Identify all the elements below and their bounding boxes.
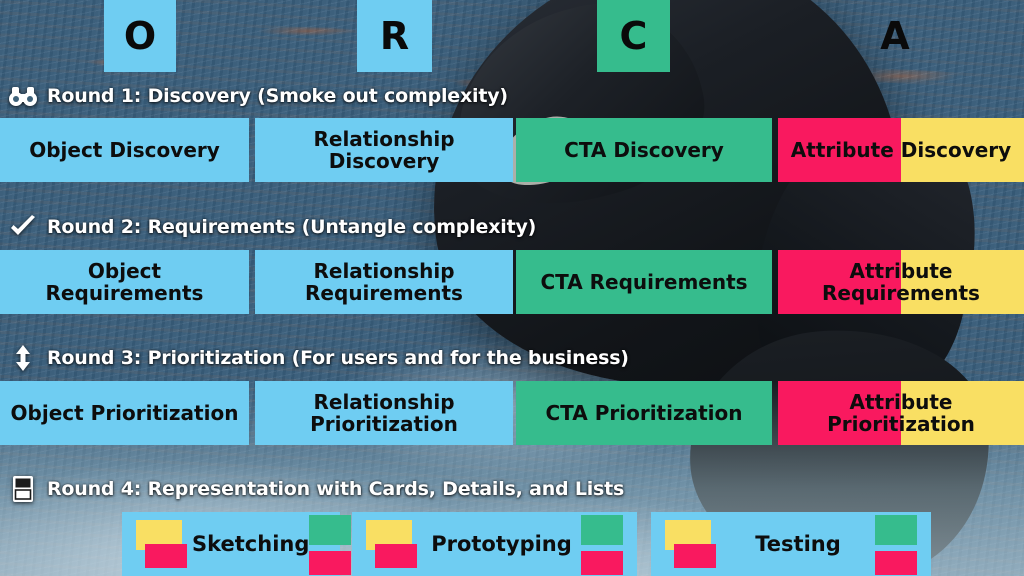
card-object-prioritization[interactable]: Object Prioritization <box>0 381 249 445</box>
orca-letter-glyph: O <box>124 17 156 55</box>
swatch-pink <box>309 551 351 575</box>
round-1-header: Round 1: Discovery (Smoke out complexity… <box>8 82 508 110</box>
swatch-pink <box>145 544 187 568</box>
card-testing[interactable]: Testing <box>651 512 931 576</box>
card-label: Prototyping <box>422 532 581 556</box>
card-label: Attribute Requirements <box>778 260 1024 305</box>
swatch-pink <box>581 551 623 575</box>
round-2-label: Round 2: Requirements (Untangle complexi… <box>47 216 536 238</box>
round-3-label: Round 3: Prioritization (For users and f… <box>47 347 629 369</box>
round-2-row: Object RequirementsRelationship Requirem… <box>0 250 1024 314</box>
swatch-group-left <box>665 518 721 570</box>
card-cta-requirements[interactable]: CTA Requirements <box>516 250 772 314</box>
orca-letter-glyph: A <box>880 17 909 55</box>
round-3-row: Object PrioritizationRelationship Priori… <box>0 381 1024 445</box>
card-label: Attribute Prioritization <box>778 391 1024 436</box>
card-label: Object Discovery <box>23 139 226 161</box>
card-sketching[interactable]: Sketching <box>122 512 340 576</box>
orca-letter-a: A <box>859 0 931 72</box>
round-4-header: Round 4: Representation with Cards, Deta… <box>8 475 624 503</box>
card-label: Object Prioritization <box>5 402 245 424</box>
card-relationship-prioritization[interactable]: Relationship Prioritization <box>255 381 513 445</box>
swatch-group-left <box>366 518 422 570</box>
card-attribute-prioritization[interactable]: Attribute Prioritization <box>778 381 1024 445</box>
card-object-requirements[interactable]: Object Requirements <box>0 250 249 314</box>
swatch-green <box>309 515 351 545</box>
swatch-pink <box>875 551 917 575</box>
orca-letter-glyph: C <box>620 17 648 55</box>
round-2-header: Round 2: Requirements (Untangle complexi… <box>8 213 536 241</box>
swatch-pink <box>375 544 417 568</box>
card-object-discovery[interactable]: Object Discovery <box>0 118 249 182</box>
updown-arrow-icon <box>8 344 38 372</box>
orca-letter-c: C <box>597 0 670 72</box>
orca-letter-o: O <box>104 0 176 72</box>
card-label: Sketching <box>192 532 309 556</box>
card-cta-prioritization[interactable]: CTA Prioritization <box>516 381 772 445</box>
card-label: Relationship Prioritization <box>255 391 513 436</box>
round-4-row: Sketching Prototyping Testing <box>0 512 1024 576</box>
card-relationship-requirements[interactable]: Relationship Requirements <box>255 250 513 314</box>
check-icon <box>8 213 38 241</box>
round-4-label: Round 4: Representation with Cards, Deta… <box>47 478 624 500</box>
card-label: Attribute Discovery <box>785 139 1017 161</box>
swatch-pink <box>674 544 716 568</box>
swatch-group-right <box>309 515 351 573</box>
card-label: Relationship Discovery <box>255 128 513 173</box>
card-relationship-discovery[interactable]: Relationship Discovery <box>255 118 513 182</box>
swatch-group-right <box>875 515 917 573</box>
swatch-green <box>581 515 623 545</box>
card-prototyping[interactable]: Prototyping <box>352 512 637 576</box>
swatch-group-right <box>581 515 623 573</box>
orca-letter-r: R <box>357 0 432 72</box>
orca-letter-glyph: R <box>380 17 409 55</box>
card-label: CTA Prioritization <box>540 402 749 424</box>
card-label: Testing <box>721 532 875 556</box>
card-label: CTA Discovery <box>558 139 730 161</box>
round-1-row: Object DiscoveryRelationship DiscoveryCT… <box>0 118 1024 182</box>
swatch-group-left <box>136 518 192 570</box>
swatch-green <box>875 515 917 545</box>
card-attribute-discovery[interactable]: Attribute Discovery <box>778 118 1024 182</box>
card-layout-icon <box>8 475 38 503</box>
binoculars-icon <box>8 82 38 110</box>
round-3-header: Round 3: Prioritization (For users and f… <box>8 344 629 372</box>
round-1-label: Round 1: Discovery (Smoke out complexity… <box>47 85 508 107</box>
card-label: Object Requirements <box>0 260 249 305</box>
card-cta-discovery[interactable]: CTA Discovery <box>516 118 772 182</box>
card-label: CTA Requirements <box>534 271 753 293</box>
card-label: Relationship Requirements <box>255 260 513 305</box>
card-attribute-requirements[interactable]: Attribute Requirements <box>778 250 1024 314</box>
